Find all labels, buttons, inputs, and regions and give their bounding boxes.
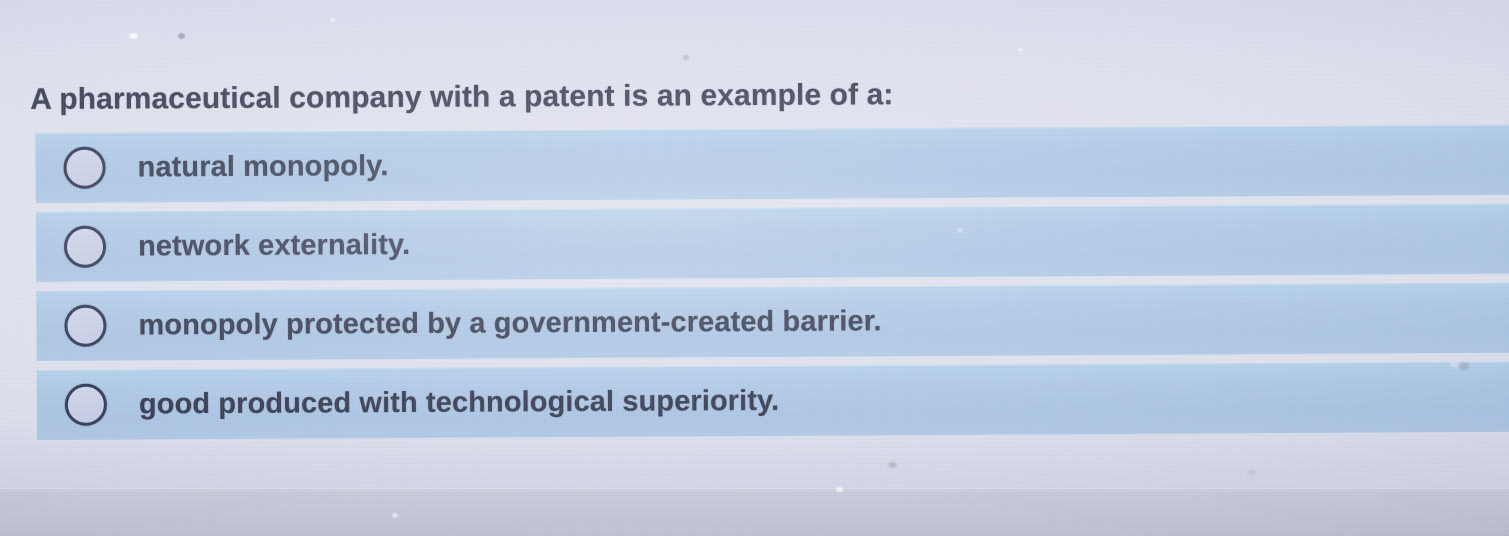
radio-button-c[interactable] xyxy=(64,305,106,347)
answer-option-c[interactable]: monopoly protected by a government-creat… xyxy=(36,283,1509,361)
radio-button-d[interactable] xyxy=(65,384,107,426)
quiz-content: A pharmaceutical company with a patent i… xyxy=(0,0,1509,536)
quiz-question-screenshot: A pharmaceutical company with a patent i… xyxy=(0,0,1509,536)
answer-option-b[interactable]: network externality. xyxy=(36,204,1509,282)
radio-button-a[interactable] xyxy=(63,147,105,189)
answer-option-a-label: natural monopoly. xyxy=(137,148,388,185)
answer-option-a[interactable]: natural monopoly. xyxy=(35,125,1509,203)
answer-option-d-label: good produced with technological superio… xyxy=(139,383,780,423)
answer-option-b-label: network externality. xyxy=(138,227,410,265)
question-text: A pharmaceutical company with a patent i… xyxy=(30,72,1230,121)
answer-options-list: natural monopoly. network externality. m… xyxy=(35,125,1509,440)
radio-button-b[interactable] xyxy=(64,226,106,268)
answer-option-d[interactable]: good produced with technological superio… xyxy=(37,362,1509,440)
surface-shadow xyxy=(0,491,1509,536)
answer-option-c-label: monopoly protected by a government-creat… xyxy=(138,303,881,343)
